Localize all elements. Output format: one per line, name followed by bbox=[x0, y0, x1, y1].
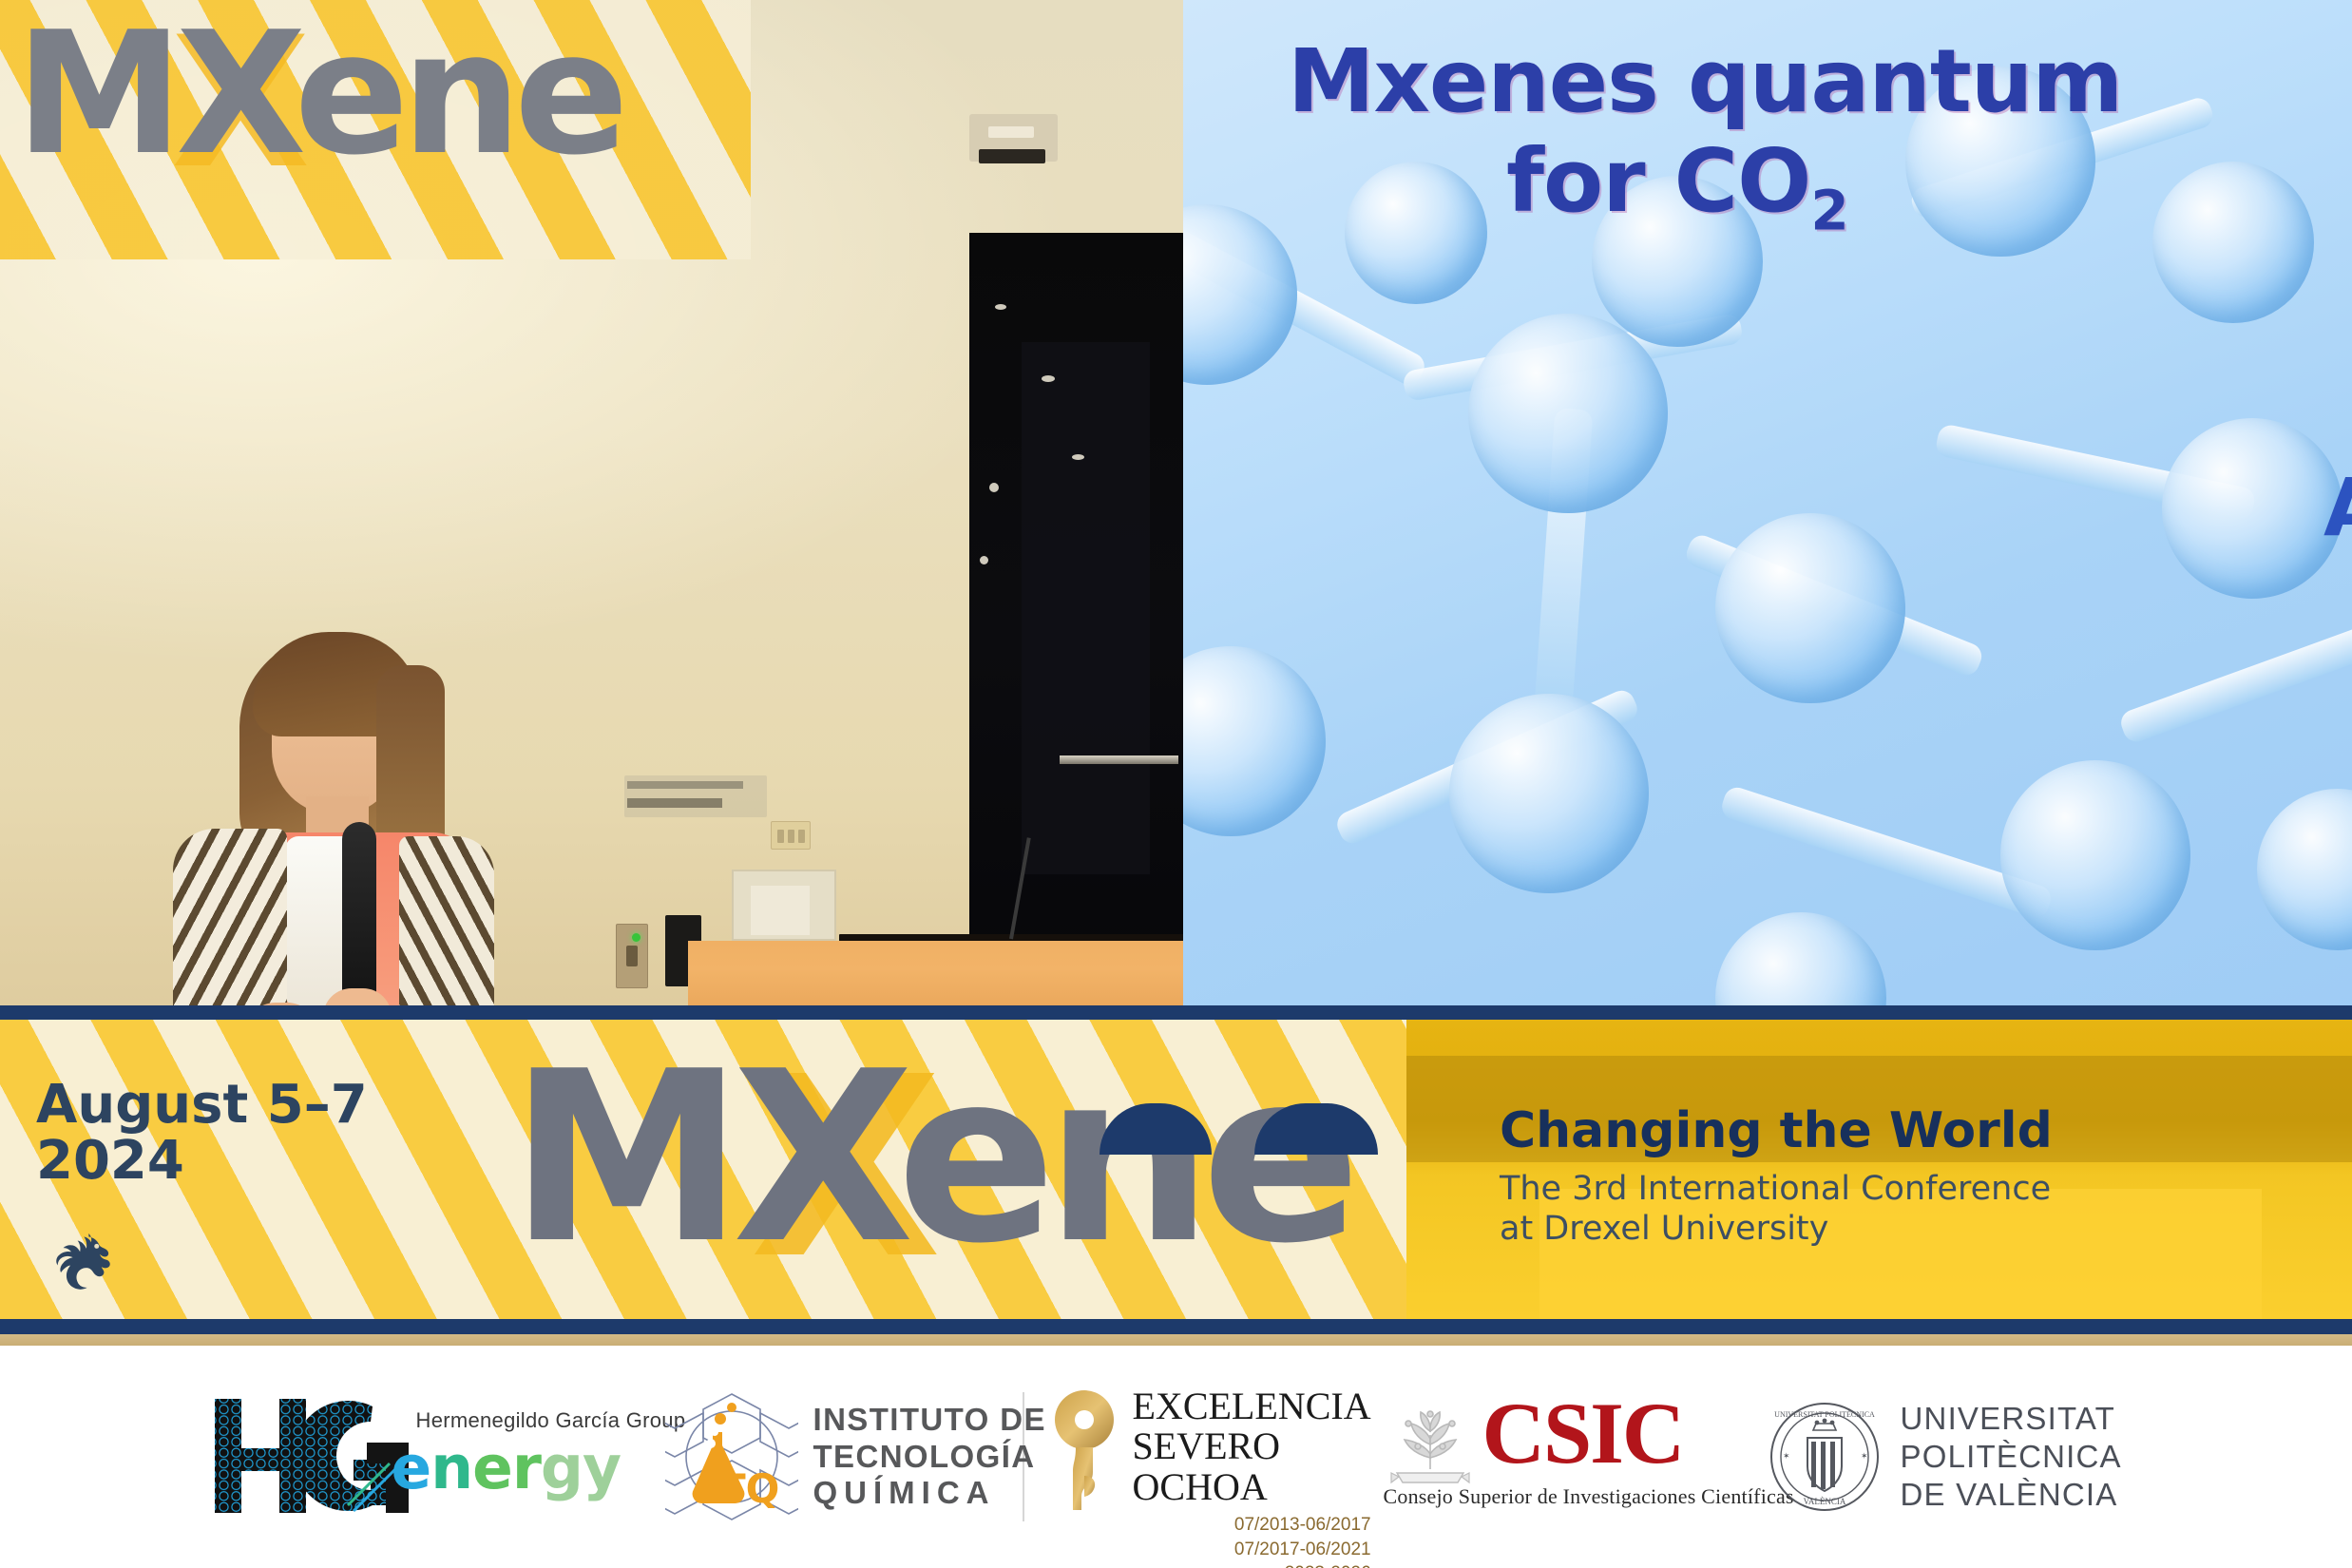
svg-text:✶: ✶ bbox=[1783, 1451, 1790, 1461]
svg-text:✶: ✶ bbox=[1861, 1451, 1868, 1461]
severo-ochoa-logo: EXCELENCIA SEVERO OCHOA 07/2013-06/2017 … bbox=[1049, 1381, 1363, 1533]
severo-ochoa-date-3: 2023-2026 bbox=[1133, 1561, 1371, 1568]
doorway-highlight bbox=[995, 304, 1006, 310]
severo-ochoa-line-2: SEVERO bbox=[1133, 1426, 1371, 1466]
banner-bottom-rule bbox=[0, 1319, 2352, 1334]
conference-date-line1: August 5–7 bbox=[36, 1077, 368, 1133]
slide-title-subscript: 2 bbox=[1810, 178, 1847, 242]
molecule-atom bbox=[2257, 789, 2352, 950]
conference-dates: August 5–7 2024 bbox=[36, 1077, 368, 1190]
doorway-highlight bbox=[989, 483, 999, 492]
hg-energy-e: e bbox=[392, 1433, 431, 1502]
severo-ochoa-date-2: 07/2017-06/2021 bbox=[1133, 1538, 1371, 1561]
csic-tree-crest-icon bbox=[1384, 1403, 1477, 1494]
molecule-atom bbox=[1449, 694, 1649, 893]
upv-line-2: POLITÈCNICA bbox=[1901, 1438, 2122, 1476]
hg-energy-logo: Hermenegildo García Group energy bbox=[205, 1386, 631, 1528]
mxene-watermark-logo: X MXene bbox=[0, 0, 751, 259]
severo-ochoa-date-1: 07/2013-06/2017 bbox=[1133, 1513, 1371, 1537]
severo-ochoa-key-icon bbox=[1049, 1388, 1119, 1512]
slide-title-line2: for CO bbox=[1506, 130, 1810, 232]
dragon-icon bbox=[40, 1233, 122, 1302]
conference-tagline: Changing the World The 3rd International… bbox=[1500, 1105, 2053, 1250]
mxene-banner-logo: X MXene bbox=[509, 1041, 1422, 1316]
hg-energy-wordmark: energy bbox=[392, 1433, 621, 1502]
itq-line-2: TECNOLOGÍA bbox=[813, 1439, 1046, 1476]
hg-energy-er: er bbox=[472, 1433, 541, 1502]
molecule-atom bbox=[2000, 760, 2190, 950]
molecule-atom bbox=[1183, 646, 1326, 836]
tagline-headline: Changing the World bbox=[1500, 1105, 2053, 1157]
wall-frame-insert bbox=[751, 886, 810, 935]
slide-title-line1: Mxenes quantum bbox=[1288, 30, 2122, 132]
wall-sign-text-line bbox=[627, 798, 722, 808]
tagline-subline-2: at Drexel University bbox=[1500, 1209, 2053, 1250]
svg-text:TQ: TQ bbox=[718, 1465, 779, 1512]
conference-banner: August 5–7 2024 X MXene Changing the Wor… bbox=[0, 1005, 2352, 1334]
status-led-icon bbox=[632, 933, 641, 942]
csic-logo: CSIC Consejo Superior de Investigaciones… bbox=[1384, 1386, 1735, 1528]
itq-name: INSTITUTO DE TECNOLOGÍA QUÍMICA bbox=[813, 1402, 1046, 1513]
upv-line-3: DE VALÈNCIA bbox=[1901, 1476, 2122, 1514]
banner-body: August 5–7 2024 X MXene Changing the Wor… bbox=[0, 1020, 2352, 1319]
upv-line-1: UNIVERSITAT bbox=[1901, 1400, 2122, 1438]
molecule-atom bbox=[1715, 513, 1905, 703]
hg-energy-gy: gy bbox=[541, 1433, 621, 1502]
itq-line-1: INSTITUTO DE bbox=[813, 1402, 1046, 1439]
banner-logo-wordmark: MXene bbox=[509, 1041, 1349, 1276]
molecule-atom bbox=[1468, 314, 1668, 513]
upv-name: UNIVERSITAT POLITÈCNICA DE VALÈNCIA bbox=[1901, 1400, 2122, 1515]
molecule-atom bbox=[1183, 204, 1297, 385]
conference-date-line2: 2024 bbox=[36, 1133, 368, 1189]
handheld-microphone-icon bbox=[342, 822, 376, 1003]
itq-logo: TQ INSTITUTO DE TECNOLOGÍA QUÍMICA bbox=[665, 1386, 998, 1528]
wall-sign-text-line bbox=[627, 781, 743, 789]
doorway-shelf bbox=[1060, 755, 1178, 764]
wall-switch-plate bbox=[616, 924, 648, 988]
upv-seal-bottom-text: VALÈNCIA bbox=[1803, 1497, 1845, 1506]
itq-flask-icon: TQ bbox=[665, 1390, 798, 1523]
itq-line-3: QUÍMICA bbox=[813, 1475, 1046, 1512]
csic-acronym: CSIC bbox=[1482, 1389, 1684, 1477]
hg-group-name: Hermenegildo García Group bbox=[416, 1408, 686, 1433]
csic-subtitle: Consejo Superior de Investigaciones Cien… bbox=[1384, 1484, 1794, 1509]
conference-slide-image: Mxenes quantum for CO2 An X MXene August… bbox=[0, 0, 2352, 1568]
upv-seal-top-text: UNIVERSITAT POLITÈCNICA bbox=[1774, 1409, 1875, 1419]
projector-vent bbox=[979, 149, 1045, 163]
severo-ochoa-line-1: EXCELENCIA bbox=[1133, 1386, 1371, 1426]
wall-outlet-plate bbox=[771, 821, 811, 850]
molecule-atom bbox=[2162, 418, 2342, 599]
upv-logo: UNIVERSITAT POLITÈCNICA VALÈNCIA ✶ ✶ UNI… bbox=[1768, 1386, 2148, 1528]
doorway-highlight bbox=[980, 556, 988, 564]
banner-tan-edge bbox=[0, 1334, 2352, 1346]
doorway-highlight bbox=[1042, 375, 1055, 382]
molecule-bond bbox=[2117, 618, 2352, 746]
slide-title: Mxenes quantum for CO2 bbox=[1288, 32, 2352, 241]
severo-ochoa-line-3: OCHOA bbox=[1133, 1467, 1371, 1507]
tagline-subline-1: The 3rd International Conference bbox=[1500, 1169, 2053, 1210]
upv-seal-icon: UNIVERSITAT POLITÈCNICA VALÈNCIA ✶ ✶ bbox=[1768, 1400, 1882, 1514]
hg-energy-n: n bbox=[430, 1433, 472, 1502]
watermark-wordmark: MXene bbox=[15, 10, 621, 179]
slide-author-fragment: An bbox=[2323, 461, 2352, 554]
doorway-interior bbox=[1022, 342, 1150, 874]
doorway-highlight bbox=[1072, 454, 1084, 460]
projection-screen: Mxenes quantum for CO2 An bbox=[1183, 0, 2352, 1022]
sponsor-logo-bar: Hermenegildo García Group energy bbox=[0, 1346, 2352, 1568]
banner-top-rule bbox=[0, 1005, 2352, 1020]
projector-lens bbox=[988, 126, 1034, 138]
